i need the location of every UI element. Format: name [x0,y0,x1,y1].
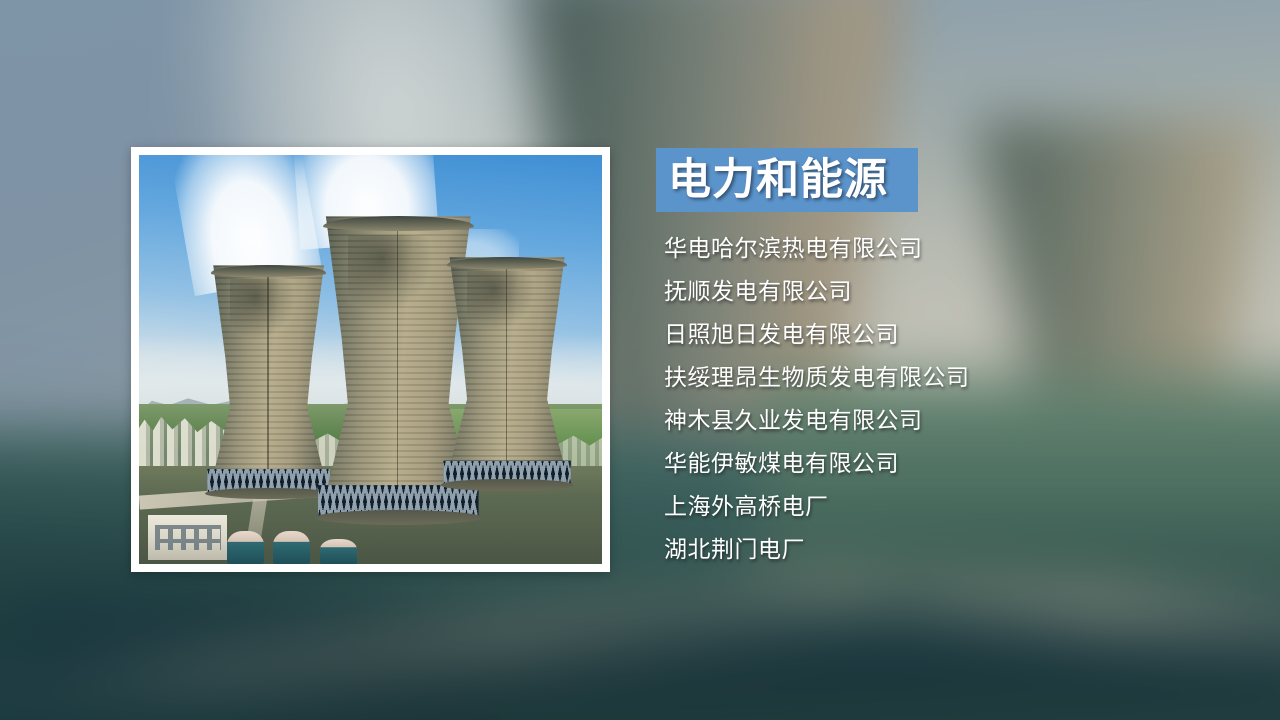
tower-stain [230,279,295,339]
photo-storage-tank [273,531,310,564]
list-item: 神木县久业发电有限公司 [664,399,1084,442]
photo-storage-tank [320,539,357,564]
list-item: 华能伊敏煤电有限公司 [664,442,1084,485]
company-list: 华电哈尔滨热电有限公司 抚顺发电有限公司 日照旭日发电有限公司 扶绥理昂生物质发… [664,227,1084,571]
title-banner: 电力和能源 [656,148,918,212]
list-item: 华电哈尔滨热电有限公司 [664,227,1084,270]
presentation-slide: 电力和能源 华电哈尔滨热电有限公司 抚顺发电有限公司 日照旭日发电有限公司 扶绥… [0,0,1280,720]
tower-stain [348,235,433,314]
photo-cooling-tower-left [208,265,328,494]
list-item: 扶绥理昂生物质发电有限公司 [664,356,1084,399]
tower-rim [211,265,327,276]
tower-base-skirt [441,479,574,490]
tower-rim [323,216,474,231]
photo-storage-tank [227,531,264,564]
tower-seam [397,222,399,500]
power-plant-photo [139,155,602,564]
list-item: 日照旭日发电有限公司 [664,313,1084,356]
page-title: 电力和能源 [656,159,888,202]
photo-cooling-tower-right [445,257,570,486]
tower-stain [467,271,535,331]
list-item: 抚顺发电有限公司 [664,270,1084,313]
photo-card [131,147,610,572]
tower-base-skirt [205,488,333,499]
tower-seam [506,262,508,473]
photo-plant-building [148,515,227,560]
list-item: 上海外高桥电厂 [664,485,1084,528]
list-item: 湖北荆门电厂 [664,528,1084,571]
tower-rim [447,257,567,268]
tower-seam [267,270,269,481]
tower-base-skirt [315,510,482,525]
